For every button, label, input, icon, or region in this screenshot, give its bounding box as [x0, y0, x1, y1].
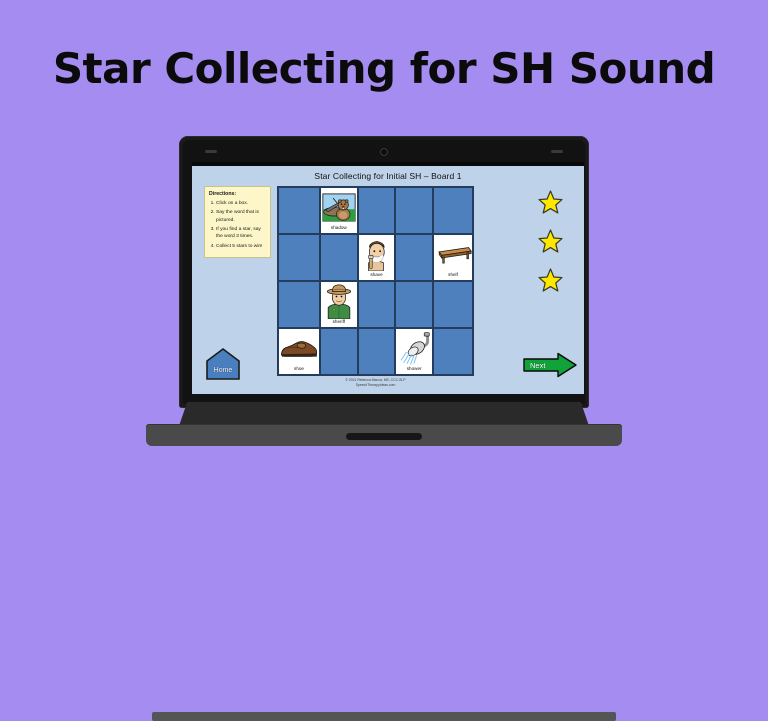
grid-cell-shoe[interactable]: shoe — [278, 328, 320, 375]
directions-list: Click on a box. Say the word that is pic… — [209, 200, 266, 250]
grid-cell-empty[interactable] — [395, 281, 433, 328]
star-icon — [538, 190, 563, 215]
grid-cell-word: shower — [407, 367, 422, 374]
man-shaving-icon — [359, 235, 395, 273]
next-button[interactable]: Next — [522, 352, 578, 378]
sheriff-icon — [321, 282, 357, 320]
direction-step-3: If you find a star, say the word 3 times… — [216, 226, 266, 241]
laptop-base-highlight — [152, 712, 616, 721]
grid-cell-empty[interactable] — [433, 281, 473, 328]
direction-step-4: Collect 5 stars to win! — [216, 243, 266, 250]
copyright: © 2021 Rebecca Manca, MS, CCC-SLP Speech… — [277, 378, 474, 388]
grid-cell-empty[interactable] — [358, 328, 396, 375]
brown-shoe-icon — [279, 329, 319, 367]
laptop-lid: Star Collecting for Initial SH – Board 1… — [179, 136, 589, 408]
grid-cell-word: sheriff — [333, 320, 345, 327]
grid-cell-shadow[interactable]: shadow — [320, 187, 358, 234]
grid-cell-shave[interactable]: shave — [358, 234, 396, 281]
laptop-base — [179, 402, 589, 426]
copyright-line-2: SpeechTherapyIdeas.com — [277, 383, 474, 388]
slide-title: Star Collecting for Initial SH – Board 1 — [192, 171, 584, 181]
grid-cell-word: shelf — [448, 273, 458, 280]
grid-cell-empty[interactable] — [278, 187, 320, 234]
directions-box: Directions: Click on a box. Say the word… — [204, 186, 271, 258]
grid-cell-empty[interactable] — [395, 187, 433, 234]
grid-cell-empty[interactable] — [433, 187, 473, 234]
grid-cell-empty[interactable] — [395, 234, 433, 281]
next-button-label: Next — [522, 361, 545, 370]
grid-cell-word: shadow — [331, 226, 347, 233]
direction-step-1: Click on a box. — [216, 200, 266, 207]
grid-cell-empty[interactable] — [433, 328, 473, 375]
grid-cell-shower[interactable]: shower — [395, 328, 433, 375]
game-grid: shadow shave shelf sheriff — [277, 186, 474, 376]
page-title: Star Collecting for SH Sound — [0, 44, 768, 93]
laptop-mockup: Star Collecting for Initial SH – Board 1… — [146, 136, 622, 454]
shower-head-icon — [396, 329, 432, 367]
wooden-shelf-icon — [434, 235, 472, 273]
grid-cell-shelf[interactable]: shelf — [433, 234, 473, 281]
star-tracker — [530, 190, 570, 307]
grid-cell-empty[interactable] — [358, 281, 396, 328]
star-icon — [538, 268, 563, 293]
laptop-bezel: Star Collecting for Initial SH – Board 1… — [183, 140, 585, 404]
bezel-dash-left-icon — [205, 150, 217, 153]
grid-cell-empty[interactable] — [278, 234, 320, 281]
trackpad-notch — [346, 433, 422, 440]
grid-cell-word: shave — [370, 273, 382, 280]
groundhog-shadow-icon — [321, 188, 357, 226]
star-icon — [538, 229, 563, 254]
home-button-label: Home — [214, 367, 233, 380]
home-button[interactable]: Home — [206, 348, 240, 380]
slide-canvas: Star Collecting for Initial SH – Board 1… — [192, 166, 584, 394]
grid-cell-empty[interactable] — [320, 234, 358, 281]
grid-cell-sheriff[interactable]: sheriff — [320, 281, 358, 328]
direction-step-2: Say the word that is pictured. — [216, 209, 266, 224]
directions-heading: Directions: — [209, 191, 266, 197]
grid-cell-word: shoe — [294, 367, 304, 374]
grid-cell-empty[interactable] — [320, 328, 358, 375]
webcam-icon — [380, 148, 388, 156]
grid-cell-empty[interactable] — [358, 187, 396, 234]
grid-cell-empty[interactable] — [278, 281, 320, 328]
bezel-dash-right-icon — [551, 150, 563, 153]
laptop-screen: Star Collecting for Initial SH – Board 1… — [192, 162, 584, 394]
